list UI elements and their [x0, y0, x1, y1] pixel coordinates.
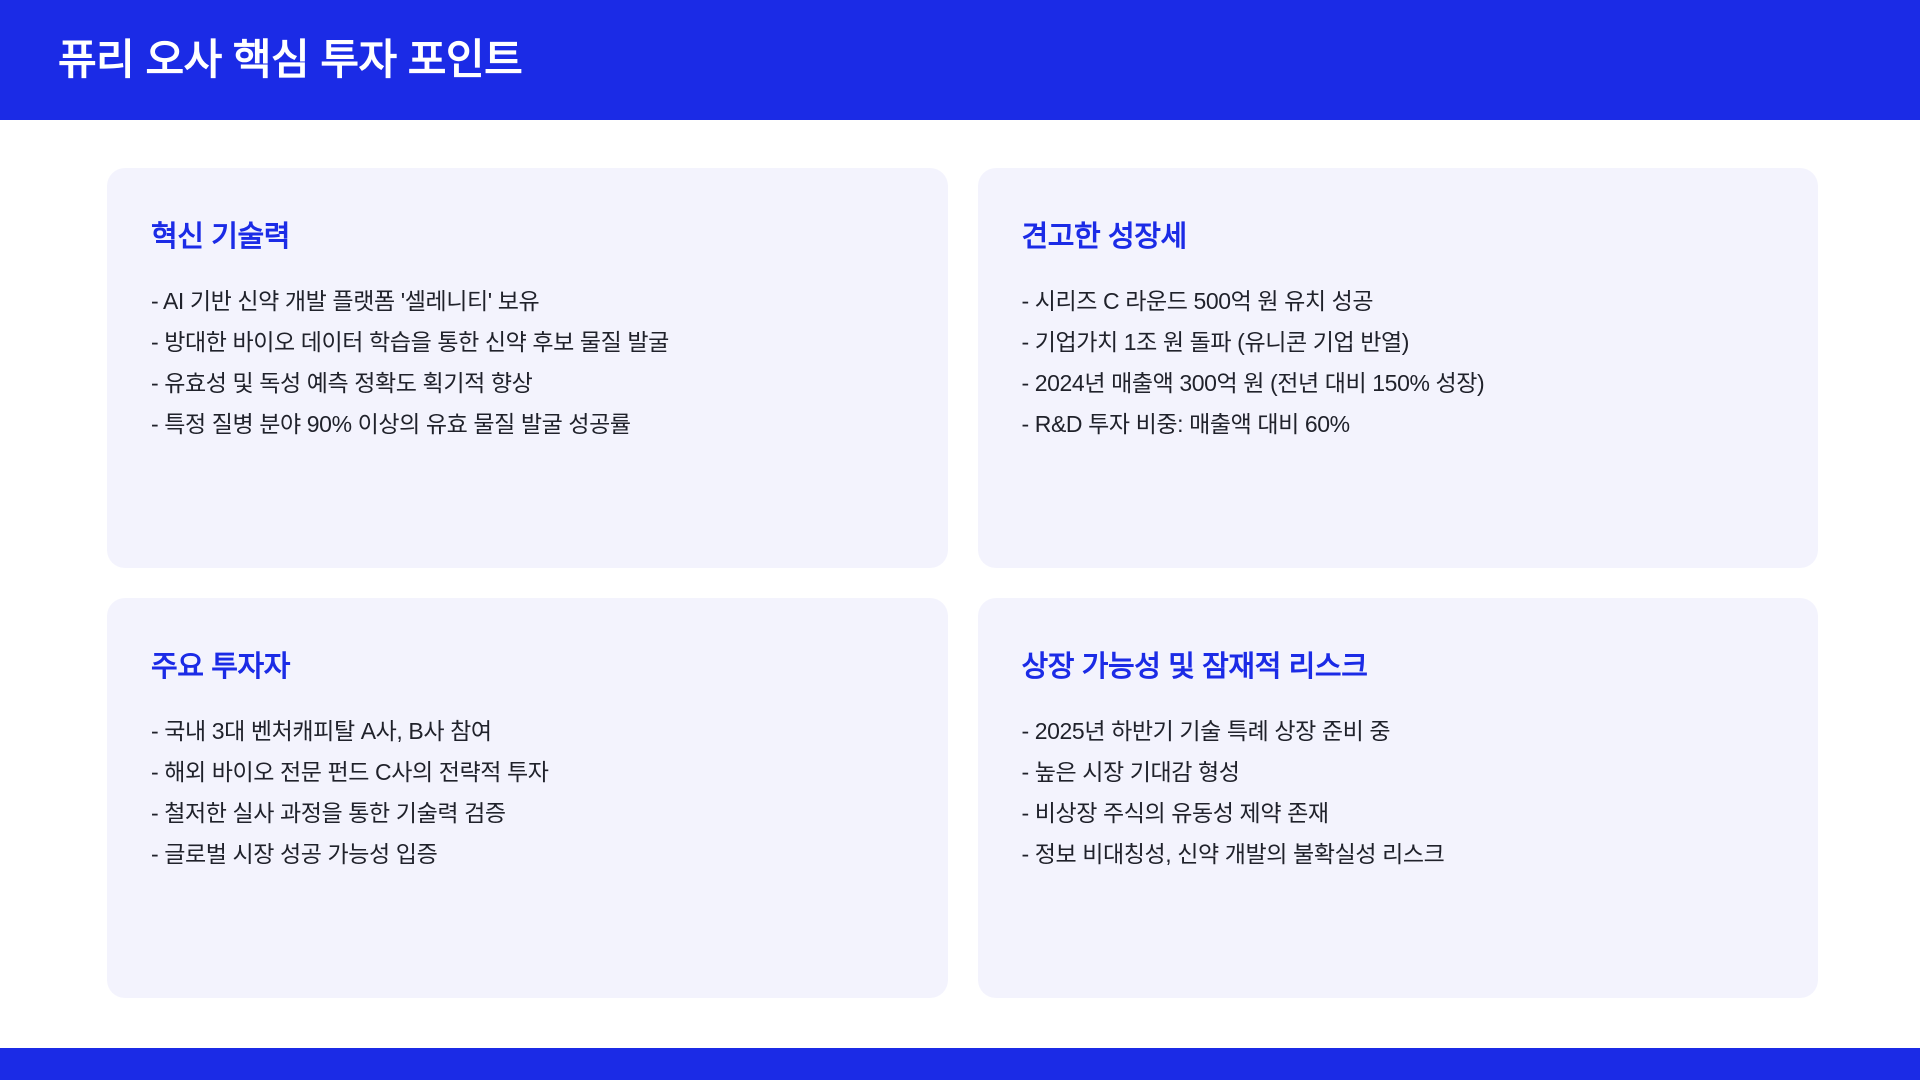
list-item: - 2024년 매출액 300억 원 (전년 대비 150% 성장) — [1022, 363, 1775, 404]
card-grid: 혁신 기술력 - AI 기반 신약 개발 플랫폼 '셀레니티' 보유 - 방대한… — [107, 168, 1818, 998]
slide-root: 퓨리 오사 핵심 투자 포인트 혁신 기술력 - AI 기반 신약 개발 플랫폼… — [0, 0, 1920, 1080]
list-item: - AI 기반 신약 개발 플랫폼 '셀레니티' 보유 — [151, 281, 904, 322]
card-bullet-list: - 시리즈 C 라운드 500억 원 유치 성공 - 기업가치 1조 원 돌파 … — [1022, 281, 1775, 445]
slide-content: 혁신 기술력 - AI 기반 신약 개발 플랫폼 '셀레니티' 보유 - 방대한… — [0, 120, 1920, 1080]
list-item: - 유효성 및 독성 예측 정확도 획기적 향상 — [151, 363, 904, 404]
list-item: - 방대한 바이오 데이터 학습을 통한 신약 후보 물질 발굴 — [151, 322, 904, 363]
list-item: - 정보 비대칭성, 신약 개발의 불확실성 리스크 — [1022, 834, 1775, 875]
list-item: - 글로벌 시장 성공 가능성 입증 — [151, 834, 904, 875]
list-item: - 2025년 하반기 기술 특례 상장 준비 중 — [1022, 711, 1775, 752]
list-item: - 해외 바이오 전문 펀드 C사의 전략적 투자 — [151, 752, 904, 793]
slide-header: 퓨리 오사 핵심 투자 포인트 — [0, 0, 1920, 120]
list-item: - 비상장 주식의 유동성 제약 존재 — [1022, 793, 1775, 834]
list-item: - 시리즈 C 라운드 500억 원 유치 성공 — [1022, 281, 1775, 322]
card-bullet-list: - AI 기반 신약 개발 플랫폼 '셀레니티' 보유 - 방대한 바이오 데이… — [151, 281, 904, 445]
list-item: - 철저한 실사 과정을 통한 기술력 검증 — [151, 793, 904, 834]
card-key-investors: 주요 투자자 - 국내 3대 벤처캐피탈 A사, B사 참여 - 해외 바이오 … — [107, 598, 948, 998]
card-solid-growth: 견고한 성장세 - 시리즈 C 라운드 500억 원 유치 성공 - 기업가치 … — [978, 168, 1819, 568]
card-innovation-technology: 혁신 기술력 - AI 기반 신약 개발 플랫폼 '셀레니티' 보유 - 방대한… — [107, 168, 948, 568]
list-item: - 높은 시장 기대감 형성 — [1022, 752, 1775, 793]
card-title: 주요 투자자 — [151, 650, 904, 685]
card-title: 상장 가능성 및 잠재적 리스크 — [1022, 650, 1775, 685]
card-bullet-list: - 2025년 하반기 기술 특례 상장 준비 중 - 높은 시장 기대감 형성… — [1022, 711, 1775, 875]
list-item: - R&D 투자 비중: 매출액 대비 60% — [1022, 404, 1775, 445]
card-ipo-and-risks: 상장 가능성 및 잠재적 리스크 - 2025년 하반기 기술 특례 상장 준비… — [978, 598, 1819, 998]
card-bullet-list: - 국내 3대 벤처캐피탈 A사, B사 참여 - 해외 바이오 전문 펀드 C… — [151, 711, 904, 875]
card-title: 혁신 기술력 — [151, 220, 904, 255]
page-title: 퓨리 오사 핵심 투자 포인트 — [0, 37, 522, 83]
list-item: - 국내 3대 벤처캐피탈 A사, B사 참여 — [151, 711, 904, 752]
list-item: - 기업가치 1조 원 돌파 (유니콘 기업 반열) — [1022, 322, 1775, 363]
footer-accent-bar — [0, 1048, 1920, 1080]
card-title: 견고한 성장세 — [1022, 220, 1775, 255]
list-item: - 특정 질병 분야 90% 이상의 유효 물질 발굴 성공률 — [151, 404, 904, 445]
